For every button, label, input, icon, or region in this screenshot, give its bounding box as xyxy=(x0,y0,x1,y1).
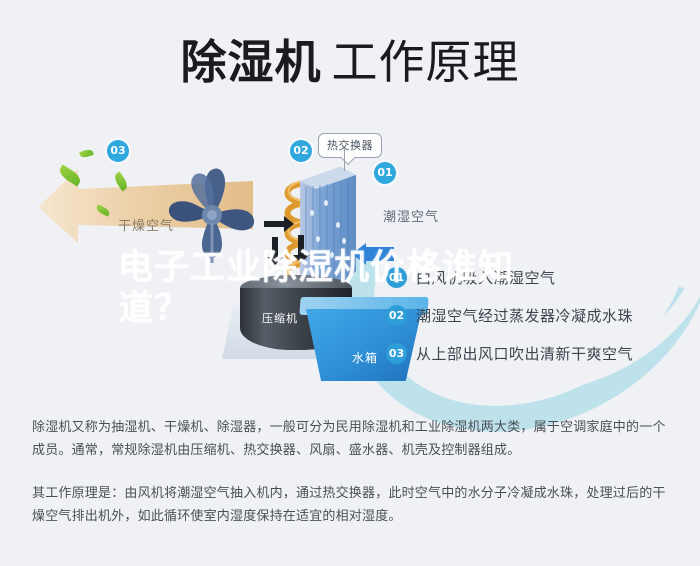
heat-exchanger-callout-stem xyxy=(344,149,345,171)
step-badge-01: 01 xyxy=(386,267,407,288)
diagram-badge-01: 01 xyxy=(374,162,396,184)
leaf-icon xyxy=(79,148,94,159)
page-title-bold: 除湿机 xyxy=(181,35,322,89)
dry-air-label: 干燥空气 xyxy=(118,215,174,234)
diagram-badge-02: 02 xyxy=(290,140,312,162)
infographic-page: 除湿机工作原理 xyxy=(0,0,700,566)
process-step-item: 03 从上部出风口吹出清新干爽空气 xyxy=(386,334,686,372)
heat-exchanger-callout: 热交换器 xyxy=(318,133,382,158)
step-badge-02: 02 xyxy=(386,305,407,326)
body-paragraph-1: 除湿机又称为抽湿机、干燥机、除湿器，一般可分为民用除湿机和工业除湿机两大类，属于… xyxy=(32,416,672,462)
diagram-badge-03: 03 xyxy=(107,140,129,162)
process-step-item: 02 潮湿空气经过蒸发器冷凝成水珠 xyxy=(386,296,686,334)
body-paragraph-2: 其工作原理是：由风机将潮湿空气抽入机内，通过热交换器，此时空气中的水分子冷凝成水… xyxy=(32,482,672,528)
process-steps-list: 01 由风机吸入潮湿空气 02 潮湿空气经过蒸发器冷凝成水珠 03 从上部出风口… xyxy=(386,258,686,372)
water-tank-label: 水箱 xyxy=(352,349,378,366)
humid-air-label: 潮湿空气 xyxy=(383,206,439,225)
fan-icon xyxy=(158,163,266,267)
step-badge-03: 03 xyxy=(386,343,407,364)
step-text-01: 由风机吸入潮湿空气 xyxy=(416,267,556,288)
compressor-label: 压缩机 xyxy=(262,310,298,326)
process-step-item: 01 由风机吸入潮湿空气 xyxy=(386,258,686,296)
body-copy: 除湿机又称为抽湿机、干燥机、除湿器，一般可分为民用除湿机和工业除湿机两大类，属于… xyxy=(32,416,672,528)
flow-arrows-icon xyxy=(262,211,318,267)
step-text-03: 从上部出风口吹出清新干爽空气 xyxy=(416,343,633,364)
page-title: 除湿机工作原理 xyxy=(0,26,700,92)
page-title-light: 工作原理 xyxy=(332,35,520,89)
step-text-02: 潮湿空气经过蒸发器冷凝成水珠 xyxy=(416,305,633,326)
